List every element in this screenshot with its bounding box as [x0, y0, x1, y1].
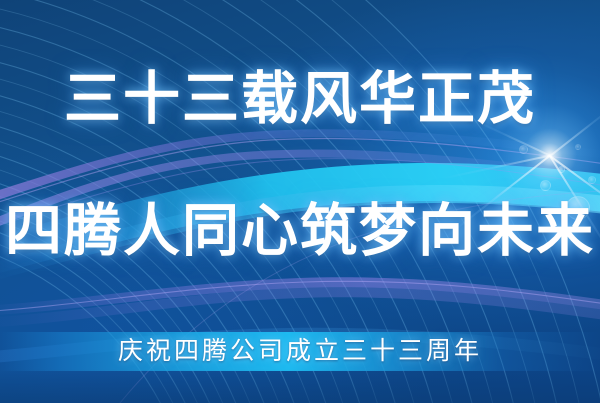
headline-line-1: 三十三载风华正茂	[0, 66, 600, 132]
poster-content: 三十三载风华正茂 四腾人同心筑梦向未来 庆祝四腾公司成立三十三周年	[0, 0, 600, 403]
headline-line-2: 四腾人同心筑梦向未来	[0, 198, 600, 264]
anniversary-poster: 三十三载风华正茂 四腾人同心筑梦向未来 庆祝四腾公司成立三十三周年	[0, 0, 600, 403]
subtitle-text: 庆祝四腾公司成立三十三周年	[0, 336, 600, 368]
